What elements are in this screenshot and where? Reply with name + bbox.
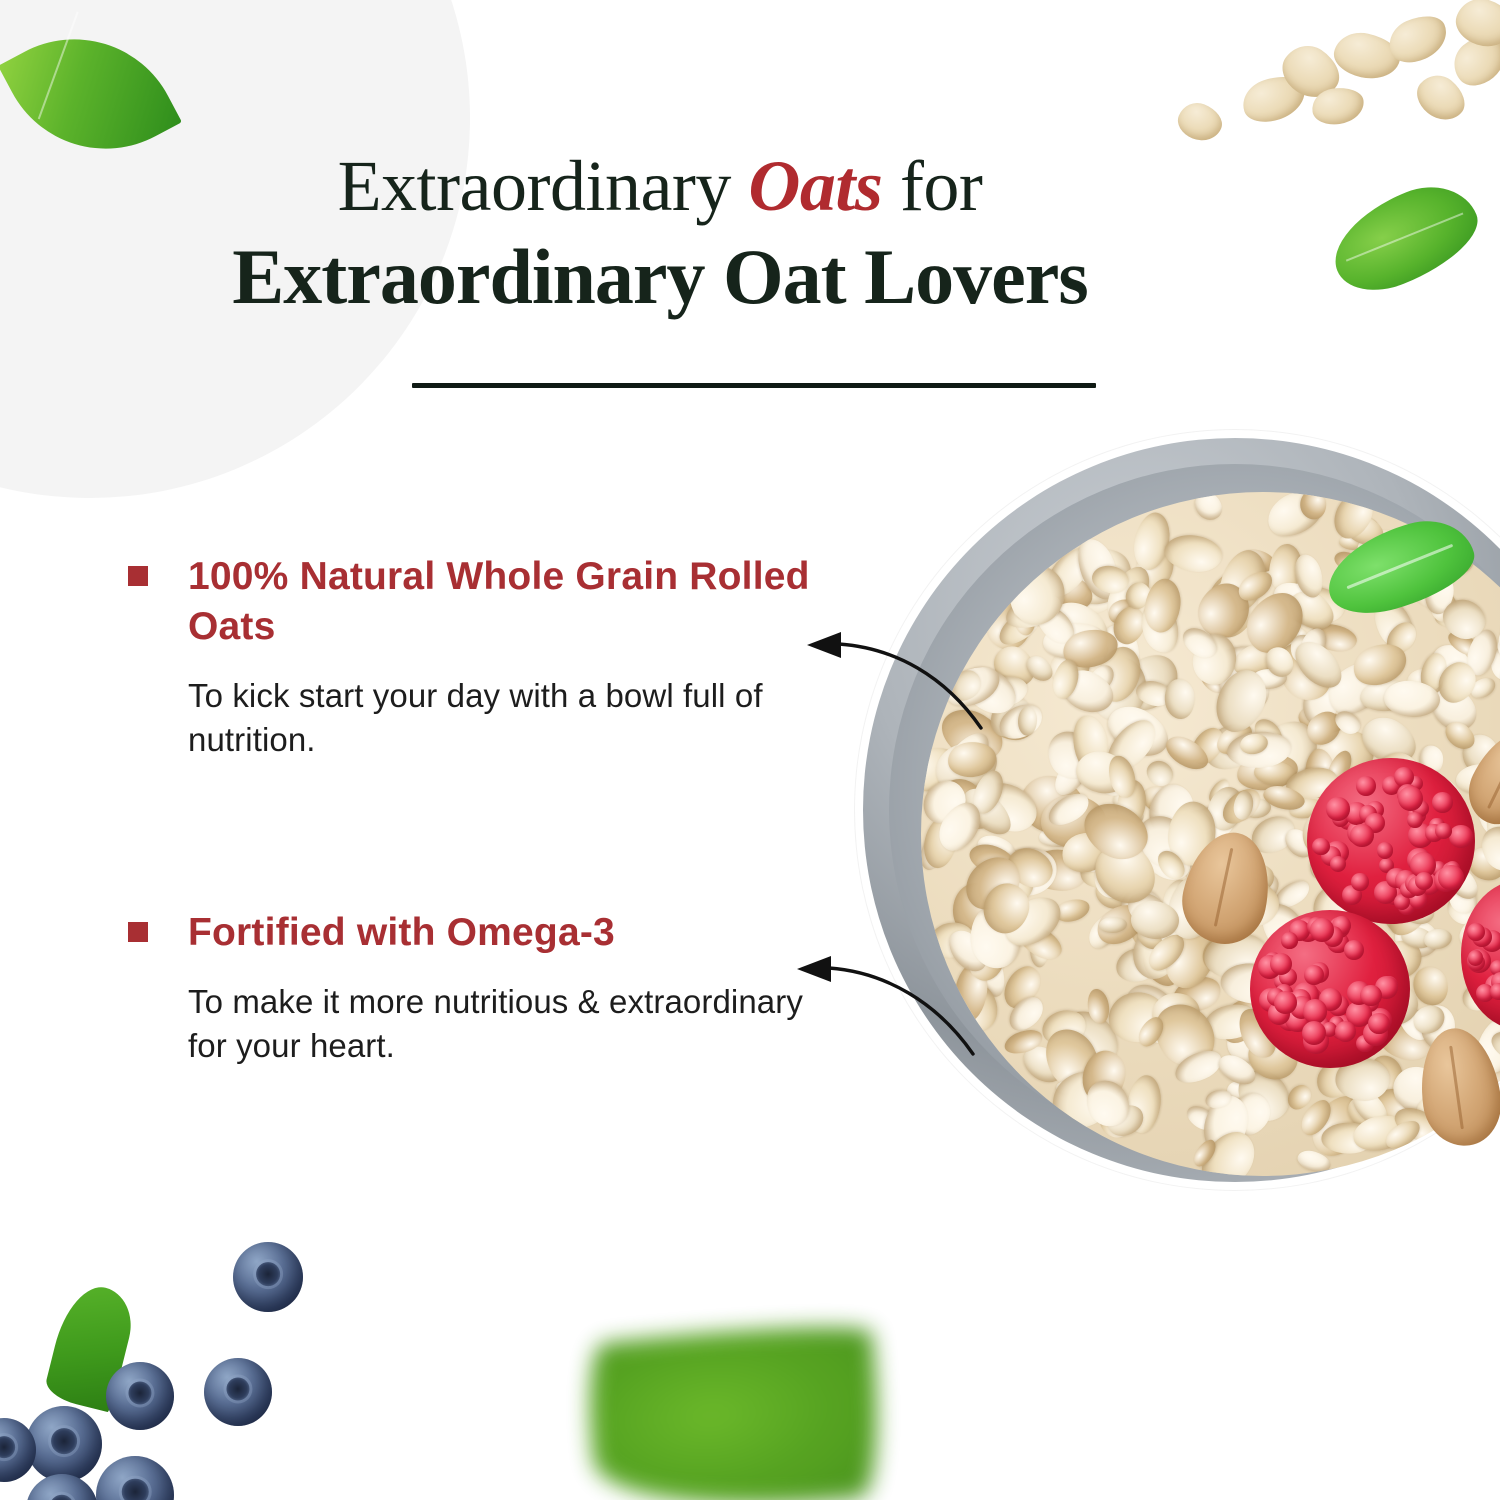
oat-flake [1164,679,1196,720]
raspberry-drupelet [1330,856,1346,872]
feature-description: To make it more nutritious & extraordina… [188,980,828,1069]
blueberry-crown-icon [226,1378,249,1401]
raspberry-2 [1250,910,1410,1068]
leaf-bottom-center-icon [590,1330,880,1500]
blueberry-crown-icon [122,1479,149,1500]
raspberry-drupelet [1398,786,1423,811]
pointer-arrow-2 [795,952,985,1062]
blueberry-crown-icon [256,1262,280,1286]
raspberry-drupelet [1302,1021,1326,1045]
headline-suffix: for [882,146,982,226]
blueberry-7 [96,1456,174,1500]
blueberry-1 [233,1242,303,1312]
raspberry-drupelet [1326,797,1350,821]
raspberry-drupelet [1344,940,1365,961]
raspberry-drupelet [1335,1021,1356,1042]
headline-line-2: Extraordinary Oat Lovers [0,238,1320,316]
raspberry-drupelet [1468,950,1483,965]
raspberry-drupelet [1351,873,1368,890]
headline-prefix: Extraordinary [338,146,749,226]
infographic-canvas: Extraordinary Oats for Extraordinary Oat… [0,0,1500,1500]
feature-block-2: Fortified with Omega-3 To make it more n… [128,908,828,1069]
oat-flake [1018,706,1038,736]
raspberry-drupelet [1356,776,1376,796]
raspberry-drupelet [1438,865,1463,890]
oatmeal-bowl-image [855,430,1500,1190]
blueberry-crown-icon [51,1428,77,1454]
blueberries-decoration [0,1230,380,1500]
square-bullet-icon [128,566,148,586]
feature-description: To kick start your day with a bowl full … [188,674,828,763]
feature-title: Fortified with Omega-3 [188,908,615,958]
blueberry-3 [106,1362,174,1430]
blueberry-6 [26,1474,98,1500]
raspberry-drupelet [1274,991,1297,1014]
headline-line-1: Extraordinary Oats for [0,150,1320,222]
raspberry-drupelet [1368,1013,1389,1034]
leaf-top-right-icon [1320,171,1491,305]
page-title: Extraordinary Oats for Extraordinary Oat… [0,150,1320,316]
raspberry-drupelet [1310,918,1334,942]
raspberry-drupelet [1432,792,1453,813]
oat-flakes-decoration [1160,0,1500,160]
raspberry-drupelet [1467,923,1485,941]
blueberry-crown-icon [50,1495,74,1500]
raspberry-drupelet [1449,825,1472,848]
blueberry-2 [204,1358,272,1426]
blueberry-crown-icon [128,1382,151,1405]
headline-divider [412,383,1096,388]
raspberry-drupelet [1407,812,1423,828]
raspberry-drupelet [1360,985,1381,1006]
headline-accent-word: Oats [748,146,882,226]
blueberry-crown-icon [0,1437,15,1459]
raspberry-drupelet [1377,842,1394,859]
raspberry-1 [1307,758,1475,924]
pointer-arrow-1 [805,628,995,738]
feature-title: 100% Natural Whole Grain Rolled Oats [188,552,828,652]
square-bullet-icon [128,922,148,942]
raspberry-drupelet [1350,824,1373,847]
blueberry-4 [26,1406,102,1482]
feature-block-1: 100% Natural Whole Grain Rolled Oats To … [128,552,828,763]
raspberry-drupelet [1281,932,1299,950]
